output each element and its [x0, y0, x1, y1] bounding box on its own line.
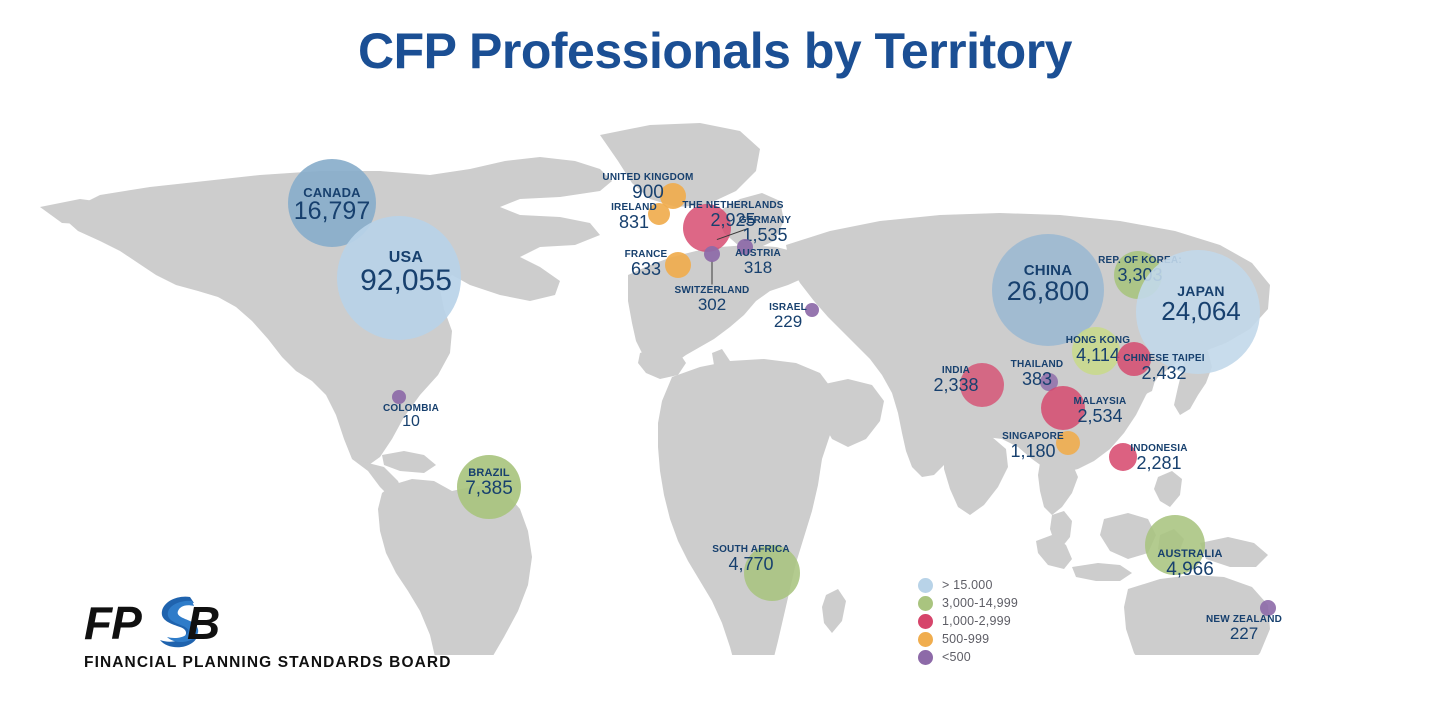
- legend-color-dot: [918, 632, 933, 647]
- territory-value: 900: [602, 183, 693, 202]
- logo-wordmark-b: B: [187, 596, 220, 650]
- territory-value: 4,966: [1157, 560, 1222, 579]
- territory-value: 10: [383, 414, 439, 430]
- fpsb-logo: FP B FINANCIAL PLANNING STANDARDS BOARD: [84, 596, 424, 672]
- territory-label: SWITZERLAND302: [675, 286, 750, 314]
- territory-label: CANADA16,797: [294, 186, 370, 225]
- territory-label: JAPAN24,064: [1161, 284, 1241, 325]
- territory-label: USA92,055: [360, 250, 452, 297]
- territory-label: AUSTRALIA4,966: [1157, 549, 1222, 580]
- territory-value: 2,281: [1130, 454, 1187, 472]
- territory-value: 633: [625, 260, 668, 278]
- territory-label: THAILAND383: [1011, 360, 1064, 389]
- logo-wordmark-fp: FP: [84, 596, 141, 650]
- territory-value: 92,055: [360, 266, 452, 297]
- territory-label: NEW ZEALAND227: [1206, 615, 1282, 643]
- territory-value: 302: [675, 296, 750, 313]
- territory-label: IRELAND831: [611, 203, 657, 232]
- territory-value: 229: [769, 313, 807, 330]
- legend-item: 500-999: [918, 630, 1068, 648]
- logo-tagline: FINANCIAL PLANNING STANDARDS BOARD: [84, 654, 424, 672]
- territory-value: 318: [735, 259, 781, 276]
- territory-value: 16,797: [294, 199, 370, 225]
- territory-label: MALAYSIA2,534: [1074, 397, 1127, 426]
- territory-bubble[interactable]: [392, 390, 406, 404]
- legend-label: > 15.000: [942, 578, 993, 592]
- territory-bubble[interactable]: [665, 252, 691, 278]
- territory-label: FRANCE633: [625, 250, 668, 279]
- legend-item: <500: [918, 648, 1068, 666]
- territory-label: CHINA26,800: [1007, 263, 1090, 306]
- territory-label: ISRAEL229: [769, 303, 807, 331]
- territory-bubble[interactable]: [805, 303, 819, 317]
- legend-color-dot: [918, 650, 933, 665]
- legend-color-dot: [918, 614, 933, 629]
- legend: > 15.0003,000-14,9991,000-2,999500-999<5…: [918, 576, 1068, 666]
- territory-label: AUSTRIA318: [735, 249, 781, 277]
- territory-label: SOUTH AFRICA4,770: [712, 545, 790, 574]
- fpsb-logo-mark: FP B: [84, 596, 234, 648]
- legend-item: 1,000-2,999: [918, 612, 1068, 630]
- legend-label: 3,000-14,999: [942, 596, 1018, 610]
- territory-value: 26,800: [1007, 278, 1090, 306]
- territory-label: INDIA2,338: [933, 366, 978, 395]
- legend-label: <500: [942, 650, 971, 664]
- legend-label: 500-999: [942, 632, 989, 646]
- territory-label: CHINESE TAIPEI2,432: [1123, 354, 1205, 383]
- territory-value: 227: [1206, 625, 1282, 642]
- territory-value: 1,180: [1002, 442, 1064, 460]
- territory-label: COLOMBIA10: [383, 404, 439, 431]
- territory-value: 24,064: [1161, 298, 1241, 325]
- legend-label: 1,000-2,999: [942, 614, 1011, 628]
- territory-value: 383: [1011, 370, 1064, 388]
- legend-color-dot: [918, 596, 933, 611]
- legend-color-dot: [918, 578, 933, 593]
- legend-item: 3,000-14,999: [918, 594, 1068, 612]
- territory-label: SINGAPORE1,180: [1002, 432, 1064, 461]
- territory-value: 2,534: [1074, 407, 1127, 425]
- territory-label: UNITED KINGDOM900: [602, 173, 693, 203]
- territory-value: 4,770: [712, 555, 790, 573]
- territory-bubble[interactable]: [704, 246, 720, 262]
- legend-item: > 15.000: [918, 576, 1068, 594]
- infographic-canvas: CFP Professionals by Territory: [0, 0, 1430, 724]
- territory-value: 2,338: [933, 376, 978, 394]
- territory-value: 7,385: [465, 479, 513, 498]
- territory-value: 831: [611, 213, 657, 231]
- territory-label: BRAZIL7,385: [465, 468, 513, 499]
- leader-line: [712, 261, 713, 285]
- territory-label: INDONESIA2,281: [1130, 444, 1187, 473]
- territory-value: 2,432: [1123, 364, 1205, 382]
